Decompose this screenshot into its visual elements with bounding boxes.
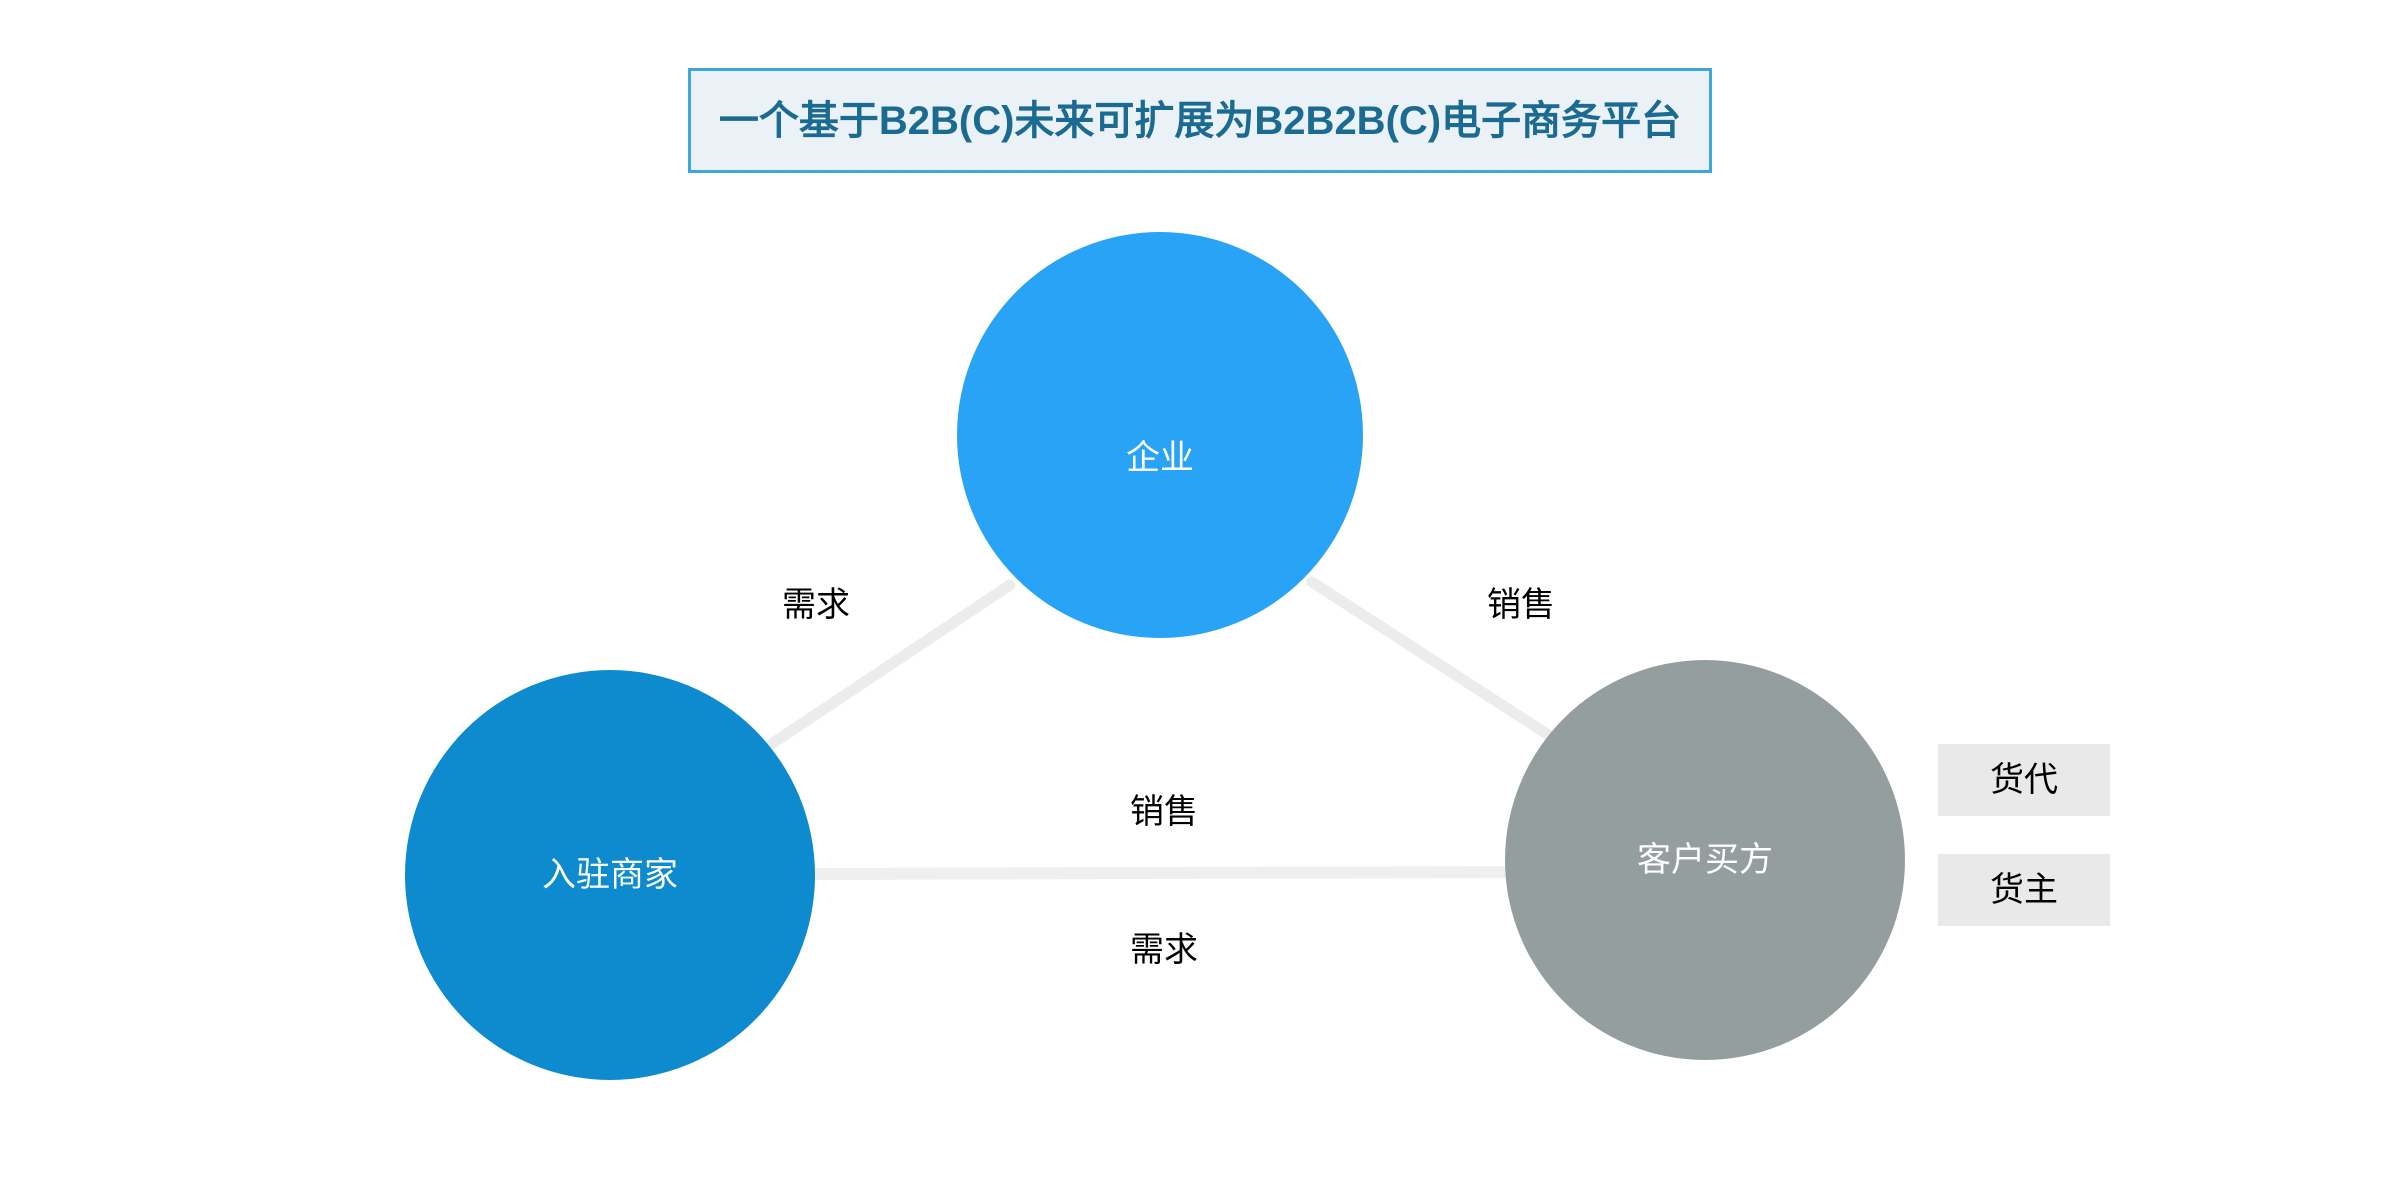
tag-box-cargo-owner[interactable]: 货主 [1938,854,2110,926]
node-merchant[interactable]: 入驻商家 [405,670,815,1080]
node-enterprise-label: 企业 [1126,441,1194,475]
node-merchant-label: 入驻商家 [542,858,678,892]
connector-merchant-buyer [812,872,1508,874]
node-buyer[interactable]: 客户买方 [1505,660,1905,1060]
node-buyer-label: 客户买方 [1637,843,1773,877]
diagram-canvas: 一个基于B2B(C)未来可扩展为B2B2B(C)电子商务平台 企业 入驻商家 客… [0,0,2400,1196]
node-enterprise[interactable]: 企业 [957,232,1363,638]
tag-box-cargo-owner-label: 货主 [1990,873,2058,907]
edge-label-merchant-to-enterprise: 需求 [782,588,850,622]
edge-label-merchant-buyer-sales: 销售 [1130,795,1198,829]
edge-label-enterprise-to-buyer: 销售 [1487,588,1555,622]
tag-box-freight-forwarder-label: 货代 [1990,763,2058,797]
edge-label-merchant-buyer-demand: 需求 [1130,933,1198,967]
tag-box-freight-forwarder[interactable]: 货代 [1938,744,2110,816]
